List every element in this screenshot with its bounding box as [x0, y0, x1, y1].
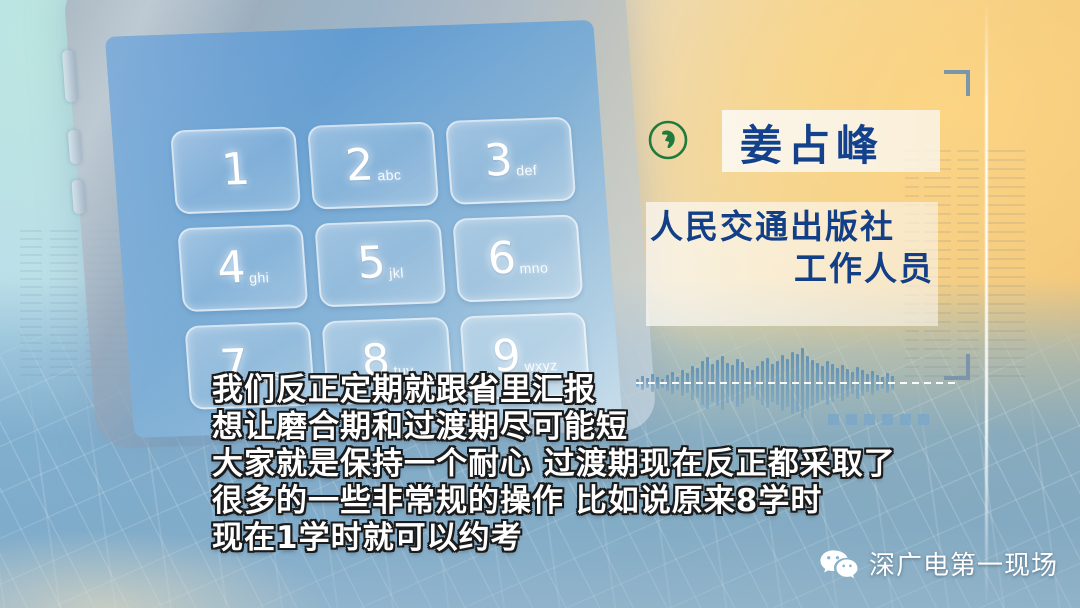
phone-handset-circle-icon: [646, 118, 690, 162]
watermark-text: 深广电第一现场: [869, 545, 1058, 582]
keypad-key-letters: jkl: [389, 264, 405, 280]
card-corner-bracket-top-right: [944, 70, 970, 96]
channel-watermark: 深广电第一现场: [819, 545, 1058, 582]
keypad-key-1: 1: [170, 126, 301, 214]
caller-name: 姜占峰: [740, 116, 930, 168]
keypad-key-letters: ghi: [249, 269, 270, 286]
keypad-key-number: 2: [344, 144, 375, 189]
keypad-key-letters: abc: [377, 167, 402, 184]
keypad-key-letters: mno: [519, 259, 549, 276]
caller-info-card: 姜占峰 人民交通出版社 工作人员: [628, 62, 980, 392]
caller-organization: 人民交通出版社 工作人员: [646, 206, 938, 290]
subtitle-block: 我们反正定期就跟省里汇报想让磨合期和过渡期尽可能短大家就是保持一个耐心 过渡期现…: [212, 372, 1012, 556]
subtitle-line: 我们反正定期就跟省里汇报: [212, 372, 1012, 409]
keypad-key-number: 6: [486, 237, 517, 282]
caller-org-line2: 工作人员: [646, 248, 938, 290]
screenshot-stage: 12abc3def4ghi5jkl6mno7pqrs8tuv9wxyz 姜占峰 …: [0, 0, 1080, 608]
keypad-key-letters: def: [516, 162, 538, 179]
keypad-key-4: 4ghi: [177, 224, 308, 312]
subtitle-line: 很多的一些非常规的操作 比如说原来8学时: [212, 483, 1012, 520]
keypad-key-number: 1: [220, 148, 251, 193]
keypad-key-number: 3: [483, 139, 514, 184]
keypad-key-number: 5: [356, 241, 387, 286]
subtitle-line: 想让磨合期和过渡期尽可能短: [212, 409, 1012, 446]
phone-side-button: [71, 180, 85, 214]
phone-keypad: 12abc3def4ghi5jkl6mno7pqrs8tuv9wxyz: [170, 117, 591, 410]
keypad-key-2: 2abc: [307, 121, 438, 209]
keypad-key-3: 3def: [445, 117, 577, 205]
subtitle-line: 大家就是保持一个耐心 过渡期现在反正都采取了: [212, 446, 1012, 483]
phone-volume-down-button: [68, 130, 82, 164]
keypad-key-5: 5jkl: [315, 219, 446, 307]
wechat-icon: [819, 549, 859, 579]
caller-name-row: [646, 118, 712, 162]
caller-org-line1: 人民交通出版社: [646, 206, 938, 248]
keypad-key-number: 4: [216, 246, 247, 291]
keypad-key-6: 6mno: [452, 214, 584, 302]
